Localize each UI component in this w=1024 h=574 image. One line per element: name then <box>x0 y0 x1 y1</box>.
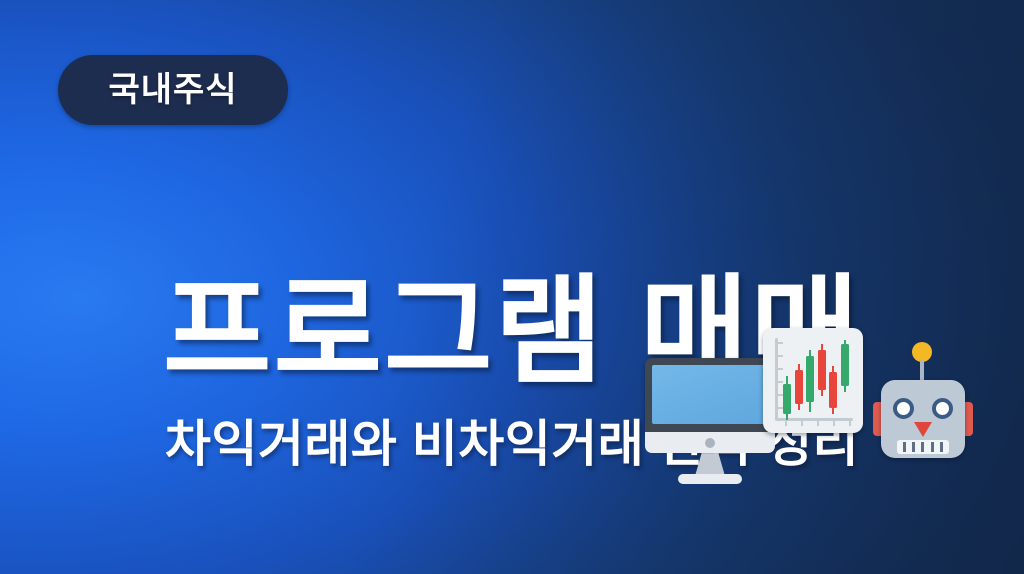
chart-candle-body <box>818 350 826 390</box>
robot-nose <box>914 422 932 437</box>
candlestick-chart-icon <box>763 328 863 433</box>
robot-mouth <box>897 440 949 454</box>
robot-tooth <box>921 442 924 452</box>
chart-candle <box>818 344 826 396</box>
chart-x-tick <box>849 421 851 426</box>
monitor-bezel <box>645 358 775 438</box>
chart-y-tick <box>778 355 783 357</box>
robot-tooth <box>931 442 934 452</box>
monitor-screen <box>652 365 768 424</box>
chart-candle <box>806 350 814 412</box>
robot-antenna-ball <box>912 342 932 362</box>
chart-candle <box>783 376 791 420</box>
chart-x-tick <box>833 421 835 426</box>
category-badge-label: 국내주식 <box>108 73 237 107</box>
chart-candle-body <box>783 384 791 414</box>
desktop-monitor-icon <box>645 358 775 468</box>
illustration-cluster <box>625 320 995 470</box>
thumbnail-canvas: 국내주식 프로그램 매매 차익거래와 비차익거래 완벽 정리 <box>0 0 1024 574</box>
robot-tooth <box>903 442 906 452</box>
chart-y-tick <box>778 368 783 370</box>
robot-eye-left <box>893 398 914 419</box>
robot-tooth <box>940 442 943 452</box>
monitor-stand-base <box>678 474 742 484</box>
chart-x-tick <box>801 421 803 426</box>
robot-eye-right <box>932 398 953 419</box>
monitor-stand-neck <box>695 453 725 476</box>
robot-antenna-rod <box>920 360 924 382</box>
chart-candle-body <box>841 344 849 386</box>
chart-candle <box>829 366 837 414</box>
category-badge[interactable]: 국내주식 <box>58 55 288 125</box>
chart-candle-body <box>795 370 803 404</box>
robot-tooth <box>912 442 915 452</box>
robot-head <box>881 380 965 458</box>
chart-candle <box>841 340 849 392</box>
chart-candle-body <box>806 356 814 402</box>
chart-candle-body <box>829 372 837 408</box>
chart-x-tick <box>785 421 787 426</box>
chart-candle <box>795 364 803 410</box>
chart-y-tick <box>778 342 783 344</box>
chart-x-tick <box>817 421 819 426</box>
candlestick-chart-plot <box>763 328 863 433</box>
robot-face-icon <box>873 342 973 462</box>
